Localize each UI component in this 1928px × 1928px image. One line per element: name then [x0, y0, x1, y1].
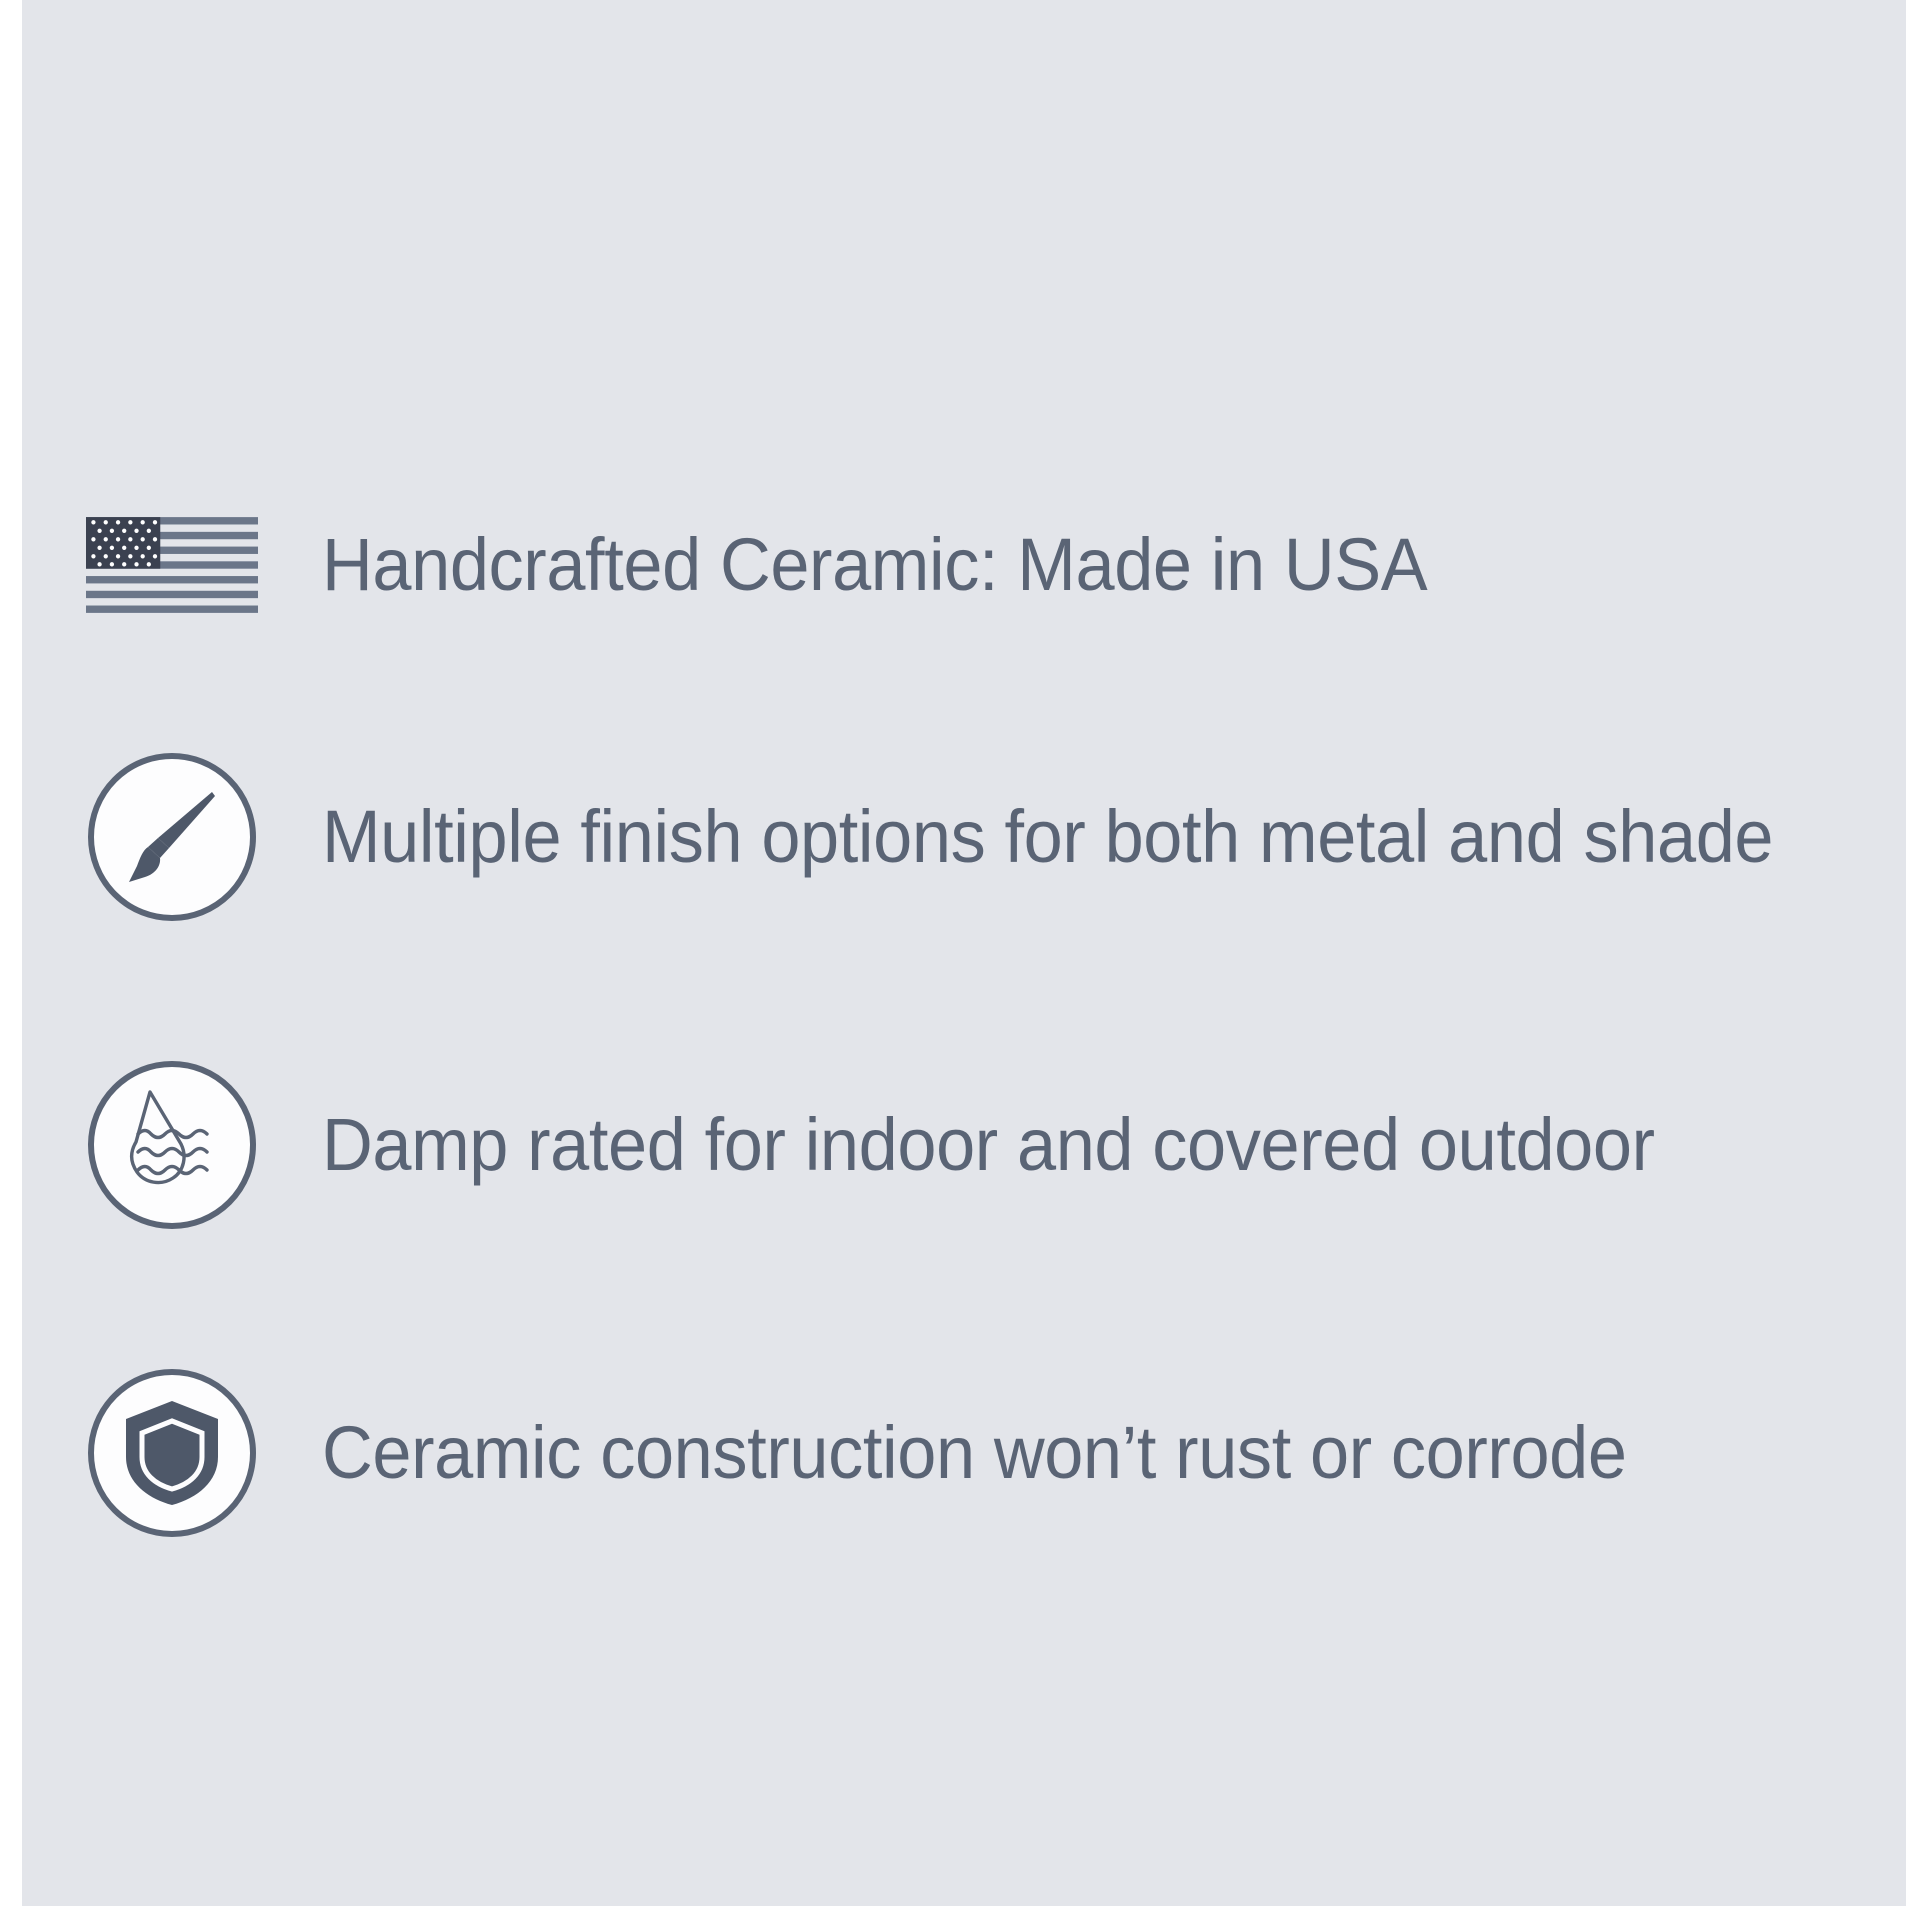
icon-slot: [86, 1367, 258, 1539]
water-drop-waves-icon: [112, 1086, 232, 1204]
feature-label: Multiple finish options for both metal a…: [322, 799, 1773, 874]
feature-list: Handcrafted Ceramic: Made in USA Multipl…: [22, 0, 1906, 1906]
icon-badge: [88, 1061, 256, 1229]
paintbrush-icon: [117, 782, 227, 892]
icon-slot: [86, 479, 258, 651]
shield-icon: [120, 1397, 224, 1509]
feature-row: Damp rated for indoor and covered outdoo…: [86, 1060, 1886, 1230]
icon-badge: [88, 1369, 256, 1537]
feature-row: Multiple finish options for both metal a…: [86, 752, 1886, 922]
feature-label: Handcrafted Ceramic: Made in USA: [322, 527, 1427, 602]
feature-row: Handcrafted Ceramic: Made in USA: [86, 480, 1886, 650]
feature-panel: Handcrafted Ceramic: Made in USA Multipl…: [22, 0, 1906, 1906]
feature-label: Damp rated for indoor and covered outdoo…: [322, 1107, 1655, 1182]
icon-slot: [86, 751, 258, 923]
us-flag-icon: [86, 516, 258, 614]
icon-slot: [86, 1059, 258, 1231]
icon-badge: [88, 753, 256, 921]
feature-row: Ceramic construction won’t rust or corro…: [86, 1368, 1886, 1538]
feature-label: Ceramic construction won’t rust or corro…: [322, 1415, 1627, 1490]
